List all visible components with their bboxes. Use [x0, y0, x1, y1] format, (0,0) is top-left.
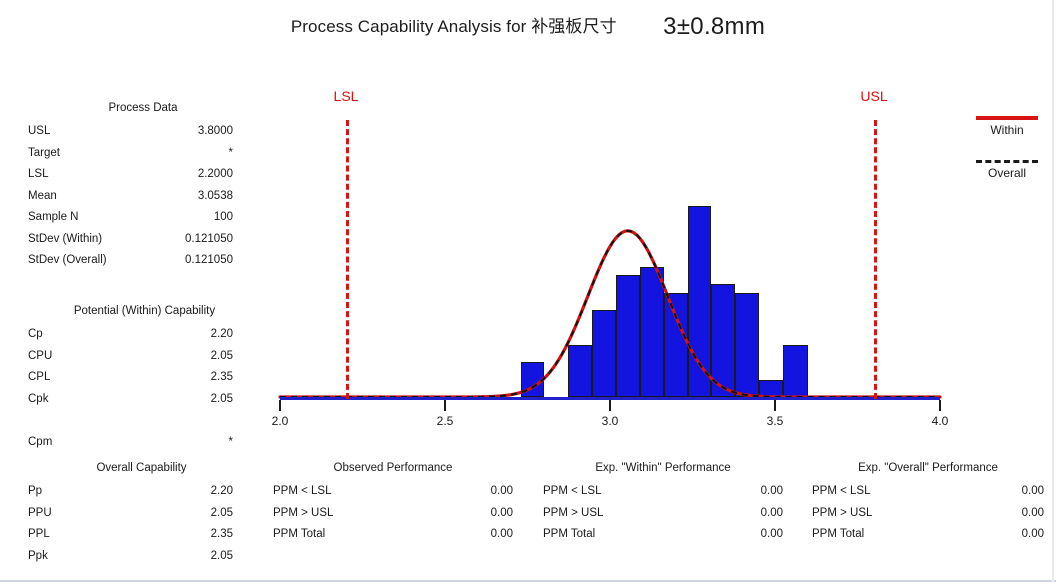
distribution-curves [268, 70, 948, 400]
table-row: Sample N 100 [28, 207, 233, 229]
table-row: PPM > USL 0.00 [812, 503, 1044, 525]
table-row: CPU 2.05 [28, 346, 233, 368]
window-right-border [1052, 0, 1054, 582]
row-label: PPM < LSL [812, 481, 871, 503]
x-axis-tick-label: 3.0 [602, 414, 619, 428]
legend-item-within: Within [968, 123, 1046, 138]
overall-performance-heading: Exp. "Overall" Performance [812, 462, 1044, 474]
row-value: 2.05 [211, 503, 233, 525]
row-value: * [229, 143, 233, 165]
table-row: PPL 2.35 [28, 524, 233, 546]
table-row: CPL 2.35 [28, 367, 233, 389]
table-row: Ppk 2.05 [28, 546, 233, 568]
row-value: 0.00 [491, 481, 513, 503]
within-performance-heading: Exp. "Within" Performance [543, 462, 783, 474]
row-label: PPM < LSL [273, 481, 332, 503]
x-axis-tick-label: 2.0 [272, 414, 289, 428]
row-value: 0.00 [491, 503, 513, 525]
table-row: Target * [28, 143, 233, 165]
table-row: PPM < LSL 0.00 [543, 481, 783, 503]
overall-line-swatch [976, 160, 1038, 163]
title-text: Process Capability Analysis for 补强板尺寸 [291, 17, 617, 36]
row-label: CPU [28, 346, 52, 368]
legend-item-overall: Overall [968, 166, 1046, 181]
row-label: Mean [28, 186, 57, 208]
row-label: PPL [28, 524, 50, 546]
within-capability-heading: Potential (Within) Capability [56, 305, 233, 317]
row-label: PPM Total [812, 524, 864, 546]
window-bottom-border [0, 580, 1056, 582]
row-value: 0.121050 [185, 250, 233, 272]
row-value: 0.00 [1022, 503, 1044, 525]
row-label: PPM Total [273, 524, 325, 546]
within-line-swatch [976, 116, 1038, 120]
legend-spacer [968, 138, 1046, 160]
row-value: 0.00 [761, 481, 783, 503]
x-axis-tick [939, 400, 941, 411]
process-data-panel: Process Data USL 3.8000 Target * LSL 2.2… [28, 102, 233, 272]
row-value: 3.8000 [198, 121, 233, 143]
x-axis-tick-label: 3.5 [767, 414, 784, 428]
table-row: PPM Total 0.00 [543, 524, 783, 546]
table-row: Mean 3.0538 [28, 186, 233, 208]
row-value: 0.00 [761, 524, 783, 546]
process-data-heading: Process Data [53, 102, 233, 114]
x-axis-tick [444, 400, 446, 411]
page-title: Process Capability Analysis for 补强板尺寸 3±… [0, 12, 1056, 41]
title-spec-text: 3±0.8mm [663, 13, 765, 40]
usl-spec-line [874, 120, 877, 399]
row-value: * [229, 432, 233, 454]
row-value: 0.00 [761, 503, 783, 525]
table-row: PPM > USL 0.00 [543, 503, 783, 525]
table-row: PPM Total 0.00 [812, 524, 1044, 546]
within-performance-panel: Exp. "Within" Performance PPM < LSL 0.00… [543, 462, 783, 546]
row-value: 2.05 [211, 546, 233, 568]
row-value: 0.00 [1022, 524, 1044, 546]
row-value: 0.00 [491, 524, 513, 546]
x-axis-tick [279, 400, 281, 411]
table-row: PPM < LSL 0.00 [812, 481, 1044, 503]
overall-curve [280, 231, 940, 397]
table-row: PPM Total 0.00 [273, 524, 513, 546]
lsl-spec-line [346, 120, 349, 399]
usl-spec-label: USL [860, 88, 887, 104]
observed-performance-panel: Observed Performance PPM < LSL 0.00 PPM … [273, 462, 513, 546]
capability-histogram-plot: 2.02.53.03.54.0 LSLUSL [268, 70, 948, 430]
row-label: CPL [28, 367, 50, 389]
lsl-spec-label: LSL [334, 88, 359, 104]
table-row-cpm: Cpm * [28, 432, 233, 454]
row-value: 2.35 [211, 524, 233, 546]
legend: Within Overall [968, 116, 1046, 181]
row-label: PPM > USL [812, 503, 872, 525]
row-value: 100 [214, 207, 233, 229]
overall-performance-panel: Exp. "Overall" Performance PPM < LSL 0.0… [812, 462, 1044, 546]
observed-performance-heading: Observed Performance [273, 462, 513, 474]
row-label: PPU [28, 503, 52, 525]
row-label: StDev (Overall) [28, 250, 107, 272]
table-row: Pp 2.20 [28, 481, 233, 503]
row-label: Sample N [28, 207, 79, 229]
x-axis-tick [609, 400, 611, 411]
table-row: PPM > USL 0.00 [273, 503, 513, 525]
row-label: Pp [28, 481, 42, 503]
row-value: 0.121050 [185, 229, 233, 251]
table-row: PPU 2.05 [28, 503, 233, 525]
table-row: LSL 2.2000 [28, 164, 233, 186]
table-row: USL 3.8000 [28, 121, 233, 143]
row-label: Target [28, 143, 60, 165]
row-value: 2.20 [211, 481, 233, 503]
table-row: Cpk 2.05 [28, 389, 233, 411]
row-value: 2.05 [211, 346, 233, 368]
row-label: USL [28, 121, 50, 143]
row-label: Ppk [28, 546, 48, 568]
row-value: 3.0538 [198, 186, 233, 208]
row-label: PPM > USL [273, 503, 333, 525]
x-axis-tick-label: 4.0 [932, 414, 949, 428]
row-label: PPM < LSL [543, 481, 602, 503]
row-value: 0.00 [1022, 481, 1044, 503]
row-spacer [28, 410, 233, 432]
row-value: 2.05 [211, 389, 233, 411]
row-label: PPM Total [543, 524, 595, 546]
table-row: StDev (Overall) 0.121050 [28, 250, 233, 272]
x-axis-tick-label: 2.5 [437, 414, 454, 428]
table-row: StDev (Within) 0.121050 [28, 229, 233, 251]
row-label: LSL [28, 164, 48, 186]
row-label: PPM > USL [543, 503, 603, 525]
table-row: Cp 2.20 [28, 324, 233, 346]
row-value: 2.2000 [198, 164, 233, 186]
x-axis-tick [774, 400, 776, 411]
within-capability-panel: Potential (Within) Capability Cp 2.20 CP… [28, 305, 233, 453]
within-curve [280, 231, 940, 397]
row-value: 2.35 [211, 367, 233, 389]
table-row: PPM < LSL 0.00 [273, 481, 513, 503]
row-label: Cp [28, 324, 43, 346]
overall-capability-panel: Overall Capability Pp 2.20 PPU 2.05 PPL … [28, 462, 233, 567]
row-label: StDev (Within) [28, 229, 102, 251]
row-value: 2.20 [211, 324, 233, 346]
row-label: Cpk [28, 389, 48, 411]
row-label: Cpm [28, 432, 52, 454]
overall-capability-heading: Overall Capability [50, 462, 233, 474]
